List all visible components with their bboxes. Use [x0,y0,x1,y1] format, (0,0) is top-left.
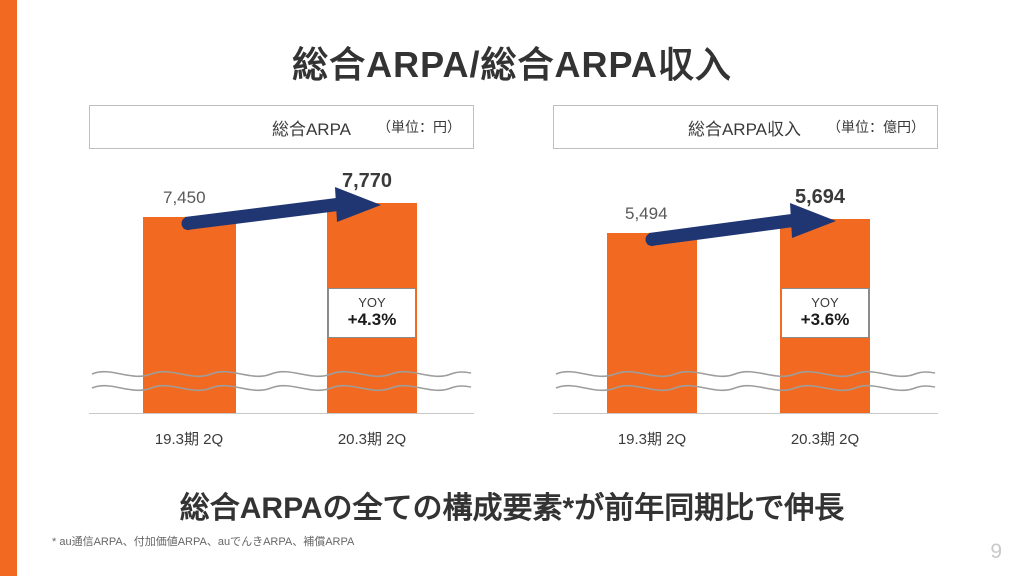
plot-area-right: 5,494 5,694 YOY +3.6% [553,160,938,415]
slide-root: 総合ARPA/総合ARPA収入 総合ARPA （単位：円） 総合ARPA収入 （… [0,0,1024,576]
panel-unit-left: （単位：円） [377,117,461,137]
yoy-callout-left: YOY +4.3% [328,288,416,338]
bar-value-20-3-2q-left: 7,770 [342,170,392,193]
category-label-right-0: 19.3期 2Q [592,428,712,449]
panel-title-right: 総合ARPA収入 [688,115,801,140]
category-label-left-0: 19.3期 2Q [129,428,249,449]
panel-header-soogoo-arpa: 総合ARPA （単位：円） [89,105,474,149]
bar-19-3-2q-left [143,217,236,413]
summary-headline: 総合ARPAの全ての構成要素*が前年同期比で伸長 [0,483,1024,527]
page-title: 総合ARPA/総合ARPA収入 [0,36,1024,88]
baseline-right [553,413,938,414]
yoy-label-left: YOY [358,296,385,310]
yoy-value-left: +4.3% [348,310,397,330]
bar-value-19-3-2q-left: 7,450 [163,188,206,208]
baseline-left [89,413,474,414]
category-labels-right: 19.3期 2Q 20.3期 2Q [553,428,938,452]
page-number: 9 [990,540,1002,564]
chart-soogoo-arpa: 7,450 7,770 YOY +4.3% [89,160,474,460]
bar-19-3-2q-right [607,233,697,413]
category-label-right-1: 20.3期 2Q [765,428,885,449]
panel-unit-right: （単位：億円） [827,117,925,137]
yoy-value-right: +3.6% [801,310,850,330]
category-label-left-1: 20.3期 2Q [312,428,432,449]
yoy-label-right: YOY [811,296,838,310]
panel-header-soogoo-arpa-shuunyuu: 総合ARPA収入 （単位：億円） [553,105,938,149]
yoy-callout-right: YOY +3.6% [781,288,869,338]
bar-value-20-3-2q-right: 5,694 [795,186,845,209]
panel-title-left: 総合ARPA [272,115,351,140]
category-labels-left: 19.3期 2Q 20.3期 2Q [89,428,474,452]
chart-soogoo-arpa-shuunyuu: 5,494 5,694 YOY +3.6% [553,160,938,460]
plot-area-left: 7,450 7,770 YOY +4.3% [89,160,474,415]
footnote: * au通信ARPA、付加価値ARPA、auでんきARPA、補償ARPA [52,533,354,549]
bar-value-19-3-2q-right: 5,494 [625,204,668,224]
